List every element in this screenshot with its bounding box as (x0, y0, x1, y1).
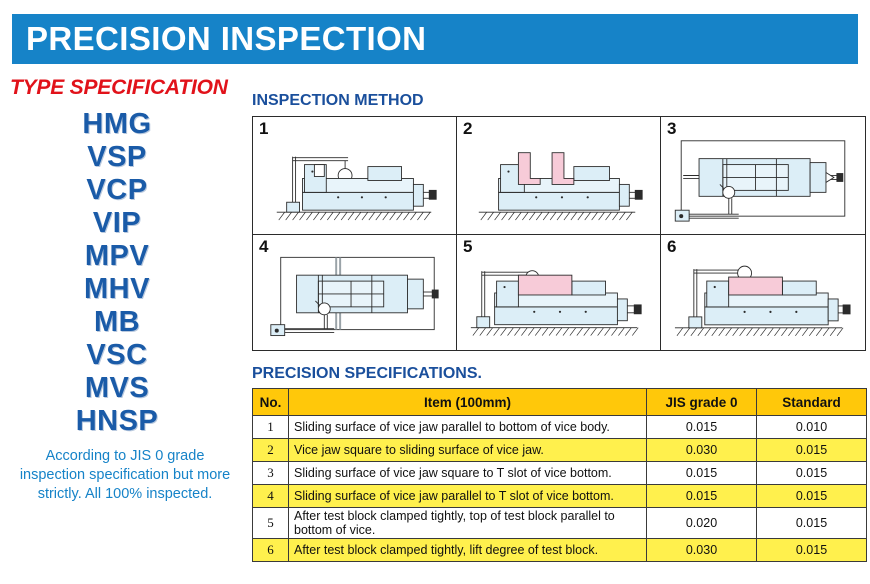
row-item: After test block clamped tightly, lift d… (289, 539, 647, 562)
inspection-panel-4: 4 (253, 235, 457, 350)
right-column: INSPECTION METHOD 1 (252, 92, 868, 562)
type-specification-title: TYPE SPECIFICATION (0, 76, 248, 100)
row-std: 0.015 (757, 485, 867, 508)
row-item: Sliding surface of vice jaw parallel to … (289, 485, 647, 508)
inspection-method-grid: 1 (252, 116, 866, 351)
test-block-parallel-diagram (457, 235, 660, 350)
inspection-panel-3: 3 (661, 117, 865, 235)
vice-plan-view-parallel-diagram (253, 235, 456, 350)
row-std: 0.015 (757, 439, 867, 462)
row-no: 1 (253, 416, 289, 439)
inspection-note: According to JIS 0 grade inspection spec… (0, 447, 248, 504)
vice-side-view-diagram (253, 117, 456, 234)
type-list-item: HMG (0, 108, 234, 141)
row-jis: 0.015 (647, 462, 757, 485)
vice-square-blocks-diagram (457, 117, 660, 234)
row-jis: 0.015 (647, 485, 757, 508)
row-item: Vice jaw square to sliding surface of vi… (289, 439, 647, 462)
type-list-item: VSP (0, 141, 234, 174)
row-no: 6 (253, 539, 289, 562)
type-specification-section: TYPE SPECIFICATION HMG VSP VCP VIP MPV M… (0, 76, 248, 504)
table-row: 2 Vice jaw square to sliding surface of … (253, 439, 867, 462)
type-list-item: VCP (0, 174, 234, 207)
panel-number: 1 (259, 119, 268, 139)
row-no: 3 (253, 462, 289, 485)
panel-number: 2 (463, 119, 472, 139)
row-no: 5 (253, 508, 289, 539)
table-row: 4 Sliding surface of vice jaw parallel t… (253, 485, 867, 508)
type-list: HMG VSP VCP VIP MPV MHV MB VSC MVS HNSP (0, 108, 248, 438)
inspection-panel-1: 1 (253, 117, 457, 235)
column-header-jis: JIS grade 0 (647, 389, 757, 416)
row-item: Sliding surface of vice jaw parallel to … (289, 416, 647, 439)
row-no: 2 (253, 439, 289, 462)
type-list-item: MPV (0, 240, 234, 273)
column-header-standard: Standard (757, 389, 867, 416)
row-item: After test block clamped tightly, top of… (289, 508, 647, 539)
row-jis: 0.015 (647, 416, 757, 439)
table-row: 5 After test block clamped tightly, top … (253, 508, 867, 539)
column-header-no: No. (253, 389, 289, 416)
page-title: PRECISION INSPECTION (12, 20, 426, 58)
inspection-panel-6: 6 (661, 235, 865, 350)
vice-plan-view-square-diagram (661, 117, 865, 234)
row-jis: 0.030 (647, 539, 757, 562)
table-row: 1 Sliding surface of vice jaw parallel t… (253, 416, 867, 439)
page-banner: PRECISION INSPECTION (12, 14, 858, 64)
table-row: 3 Sliding surface of vice jaw square to … (253, 462, 867, 485)
panel-number: 6 (667, 237, 676, 257)
type-list-item: VSC (0, 339, 234, 372)
row-std: 0.015 (757, 508, 867, 539)
inspection-panel-2: 2 (457, 117, 661, 235)
panel-number: 5 (463, 237, 472, 257)
row-jis: 0.020 (647, 508, 757, 539)
row-jis: 0.030 (647, 439, 757, 462)
row-item: Sliding surface of vice jaw square to T … (289, 462, 647, 485)
row-std: 0.015 (757, 462, 867, 485)
inspection-panel-5: 5 (457, 235, 661, 350)
panel-number: 4 (259, 237, 268, 257)
type-list-item: MVS (0, 372, 234, 405)
test-block-lift-degree-diagram (661, 235, 865, 350)
table-row: 6 After test block clamped tightly, lift… (253, 539, 867, 562)
row-std: 0.010 (757, 416, 867, 439)
type-list-item: VIP (0, 207, 234, 240)
precision-specifications-title: PRECISION SPECIFICATIONS. (252, 365, 868, 383)
table-header-row: No. Item (100mm) JIS grade 0 Standard (253, 389, 867, 416)
row-std: 0.015 (757, 539, 867, 562)
inspection-method-title: INSPECTION METHOD (252, 92, 868, 110)
row-no: 4 (253, 485, 289, 508)
precision-specifications-table: No. Item (100mm) JIS grade 0 Standard 1 … (252, 388, 867, 562)
type-list-item: HNSP (0, 405, 234, 438)
panel-number: 3 (667, 119, 676, 139)
type-list-item: MB (0, 306, 234, 339)
precision-inspection-page: PRECISION INSPECTION TYPE SPECIFICATION … (0, 0, 870, 584)
column-header-item: Item (100mm) (289, 389, 647, 416)
type-list-item: MHV (0, 273, 234, 306)
